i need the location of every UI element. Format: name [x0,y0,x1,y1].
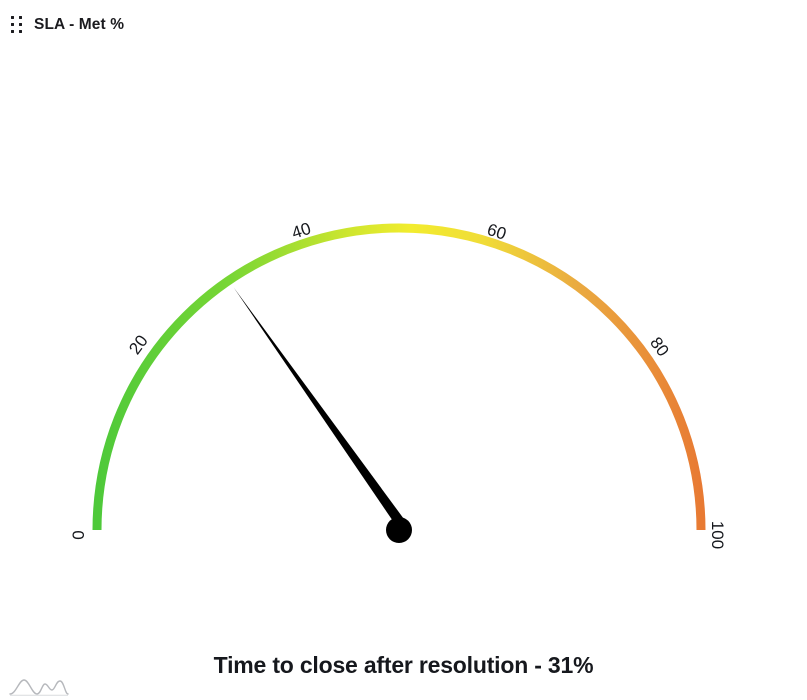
widget-title: SLA - Met % [34,16,124,34]
drag-dot [11,23,14,26]
gauge-needle-pointer [234,287,404,523]
wave-mountain-logo-icon [8,668,70,698]
gauge-tick-label-100: 100 [708,521,727,549]
gauge-tick-label-0: 0 [69,530,88,539]
drag-dot [19,30,22,33]
gauge-arc [97,228,701,530]
drag-dot [19,23,22,26]
drag-dot [11,16,14,19]
gauge-caption: Time to close after resolution - 31% [0,652,807,679]
widget-header: SLA - Met % [0,0,807,50]
gauge-chart: 0 20 40 60 80 100 [0,48,807,648]
gauge-needle-hub [386,517,412,543]
gauge-tick-label-20: 20 [125,332,151,358]
drag-dot [19,16,22,19]
gauge-needle [234,287,412,543]
drag-handle-icon[interactable] [8,15,26,35]
drag-dot [11,30,14,33]
gauge-svg: 0 20 40 60 80 100 [0,48,807,648]
